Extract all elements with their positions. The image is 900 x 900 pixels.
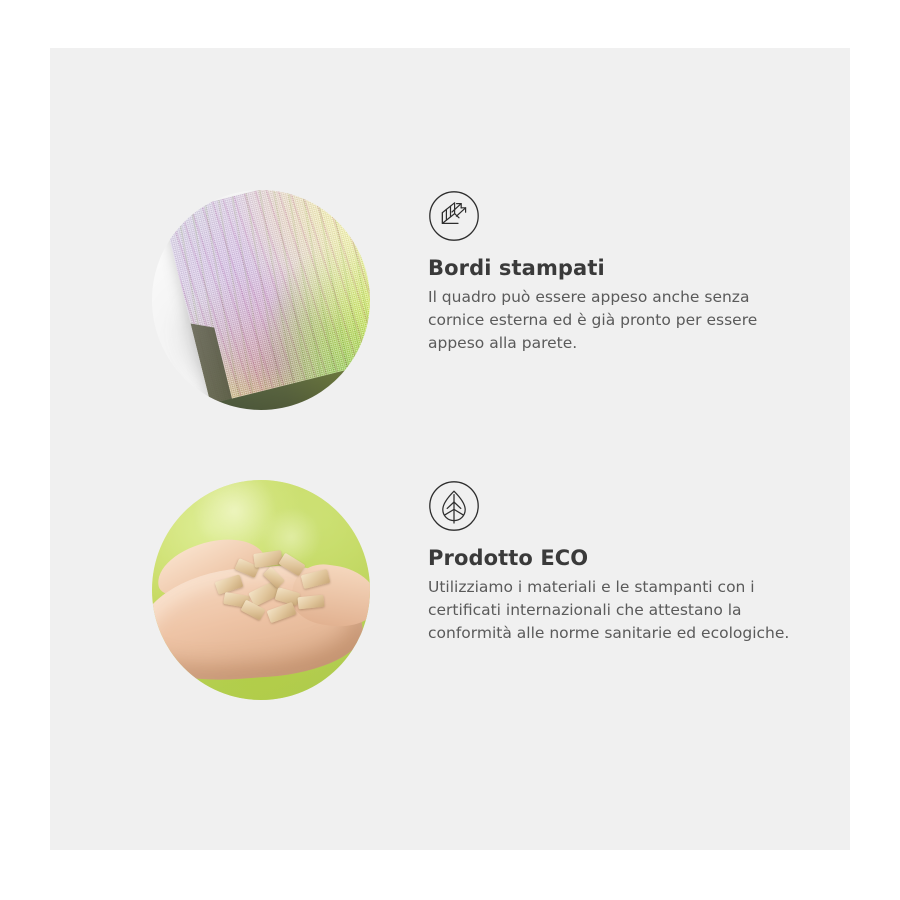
canvas-corner-photo: [152, 190, 370, 410]
feature-description: Utilizziamo i materiali e le stampanti c…: [428, 576, 803, 644]
eco-photo-background: [152, 480, 370, 700]
feature-block-printed-edges: Bordi stampati Il quadro può essere appe…: [50, 190, 850, 460]
content-panel: Bordi stampati Il quadro può essere appe…: [50, 48, 850, 850]
wood-chips-pile: [210, 548, 338, 622]
feature-text-eco-product: Prodotto ECO Utilizziamo i materiali e l…: [428, 480, 818, 644]
feature-title: Bordi stampati: [428, 256, 818, 280]
canvas-photo-backdrop: [152, 190, 370, 410]
feature-title: Prodotto ECO: [428, 546, 818, 570]
product-features-infographic: Bordi stampati Il quadro può essere appe…: [0, 0, 900, 900]
feature-block-eco-product: Prodotto ECO Utilizziamo i materiali e l…: [50, 480, 850, 750]
eco-wood-chips-photo: [152, 480, 370, 700]
feature-description: Il quadro può essere appeso anche senza …: [428, 286, 803, 354]
leaf-icon: [428, 480, 480, 532]
feature-text-printed-edges: Bordi stampati Il quadro può essere appe…: [428, 190, 818, 354]
printed-edges-icon: [428, 190, 480, 242]
